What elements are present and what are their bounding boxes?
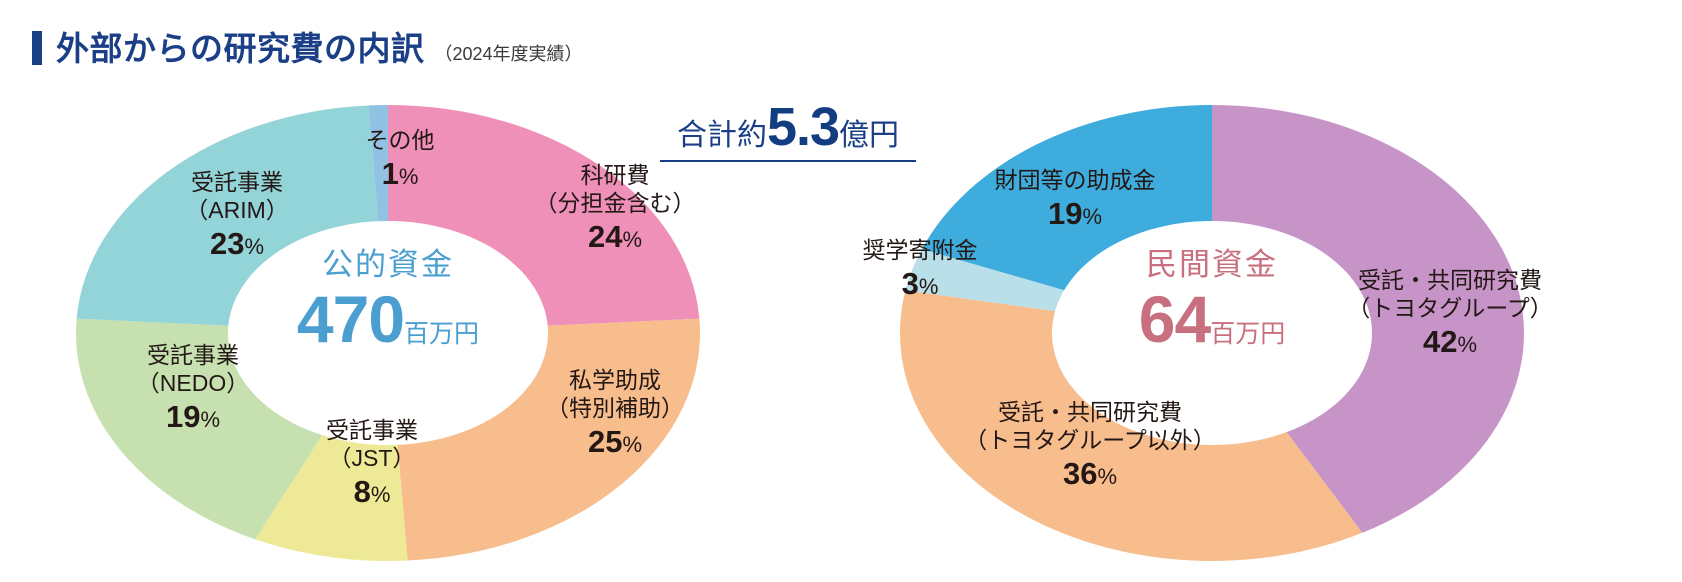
donut-chart-public: 公的資金 470百万円 xyxy=(38,98,738,568)
donut-hole-private xyxy=(1052,221,1372,445)
page-title: 外部からの研究費の内訳 xyxy=(56,22,425,70)
donut-hole-public xyxy=(228,221,548,445)
page-subtitle: （2024年度実績） xyxy=(435,40,583,66)
donut-svg-public xyxy=(38,98,738,568)
title-accent-bar xyxy=(32,31,42,65)
page-header: 外部からの研究費の内訳 （2024年度実績） xyxy=(32,22,583,70)
charts-container: 公的資金 470百万円 民間資金 64百万円 科研費 （分担金含む） 24% 私… xyxy=(0,86,1682,582)
donut-svg-private xyxy=(862,98,1562,568)
donut-chart-private: 民間資金 64百万円 xyxy=(862,98,1562,568)
